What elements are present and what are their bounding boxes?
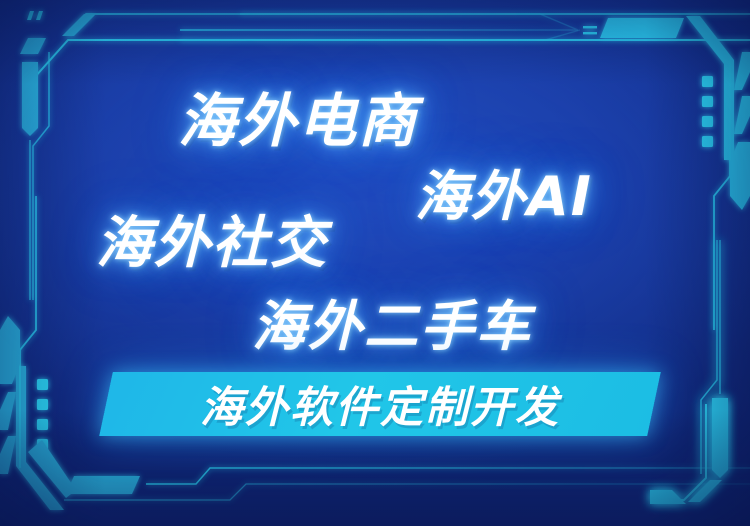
cta-banner[interactable]: 海外软件定制开发	[106, 372, 654, 436]
cta-banner-label: 海外软件定制开发	[106, 372, 654, 436]
headline-used-car: 海外二手车	[252, 282, 532, 361]
headline-ai: 海外AI	[415, 152, 593, 231]
headline-ecommerce: 海外电商	[178, 74, 418, 158]
headline-social: 海外社交	[96, 198, 328, 279]
poster-canvas: 海外电商 海外AI 海外社交 海外二手车 海外软件定制开发	[0, 0, 750, 526]
headline-group: 海外电商 海外AI 海外社交 海外二手车 海外软件定制开发	[0, 0, 750, 526]
